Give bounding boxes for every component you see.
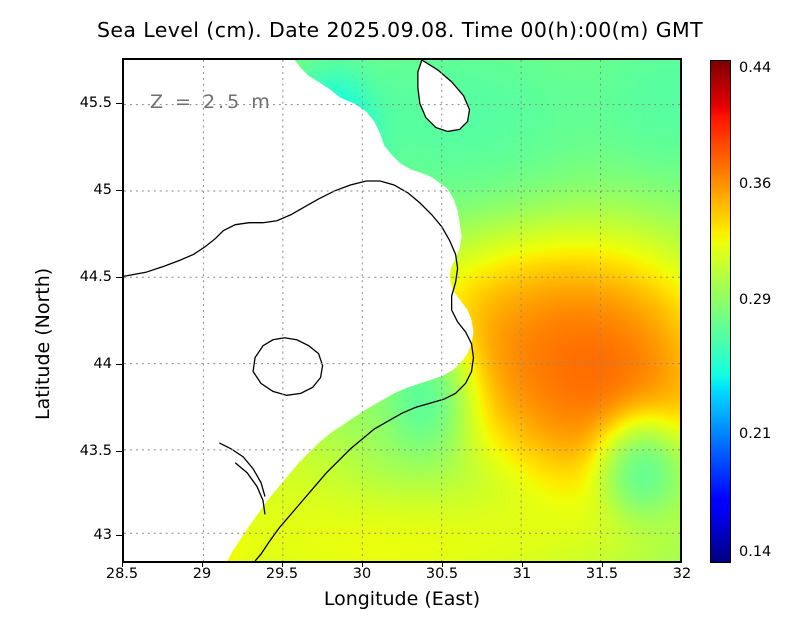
xtick-label: 31.5: [586, 566, 618, 582]
xtick-label: 30: [353, 566, 371, 582]
ytick-label: 44.5: [62, 269, 112, 285]
xtick-label: 32: [673, 566, 691, 582]
map-plot-area: Z = 2.5 m: [122, 58, 682, 563]
colorbar-tick-label: 0.36: [739, 176, 771, 192]
xtick-label: 30.5: [426, 566, 458, 582]
colorbar: [710, 60, 731, 563]
ytick-label: 45: [62, 182, 112, 198]
ytick-label: 45.5: [62, 95, 112, 111]
sea-level-map-figure: Sea Level (cm). Date 2025.09.08. Time 00…: [0, 0, 800, 618]
xtick-label: 29: [193, 566, 211, 582]
colorbar-gradient: [711, 61, 730, 562]
xtick-label: 31: [513, 566, 531, 582]
colorbar-tick-label: 0.21: [739, 426, 771, 442]
ytick-label: 43: [62, 527, 112, 543]
y-axis-label: Latitude (North): [32, 268, 54, 420]
ytick-label: 43.5: [62, 443, 112, 459]
colorbar-tick-label: 0.44: [739, 60, 771, 76]
figure-title: Sea Level (cm). Date 2025.09.08. Time 00…: [0, 18, 800, 42]
xtick-label: 29.5: [266, 566, 298, 582]
colorbar-tick-label: 0.14: [739, 544, 771, 560]
ytick-label: 44: [62, 356, 112, 372]
map-gridlines: [124, 60, 680, 561]
xtick-label: 28.5: [106, 566, 138, 582]
x-axis-label: Longitude (East): [122, 588, 682, 610]
colorbar-tick-label: 0.29: [739, 292, 771, 308]
